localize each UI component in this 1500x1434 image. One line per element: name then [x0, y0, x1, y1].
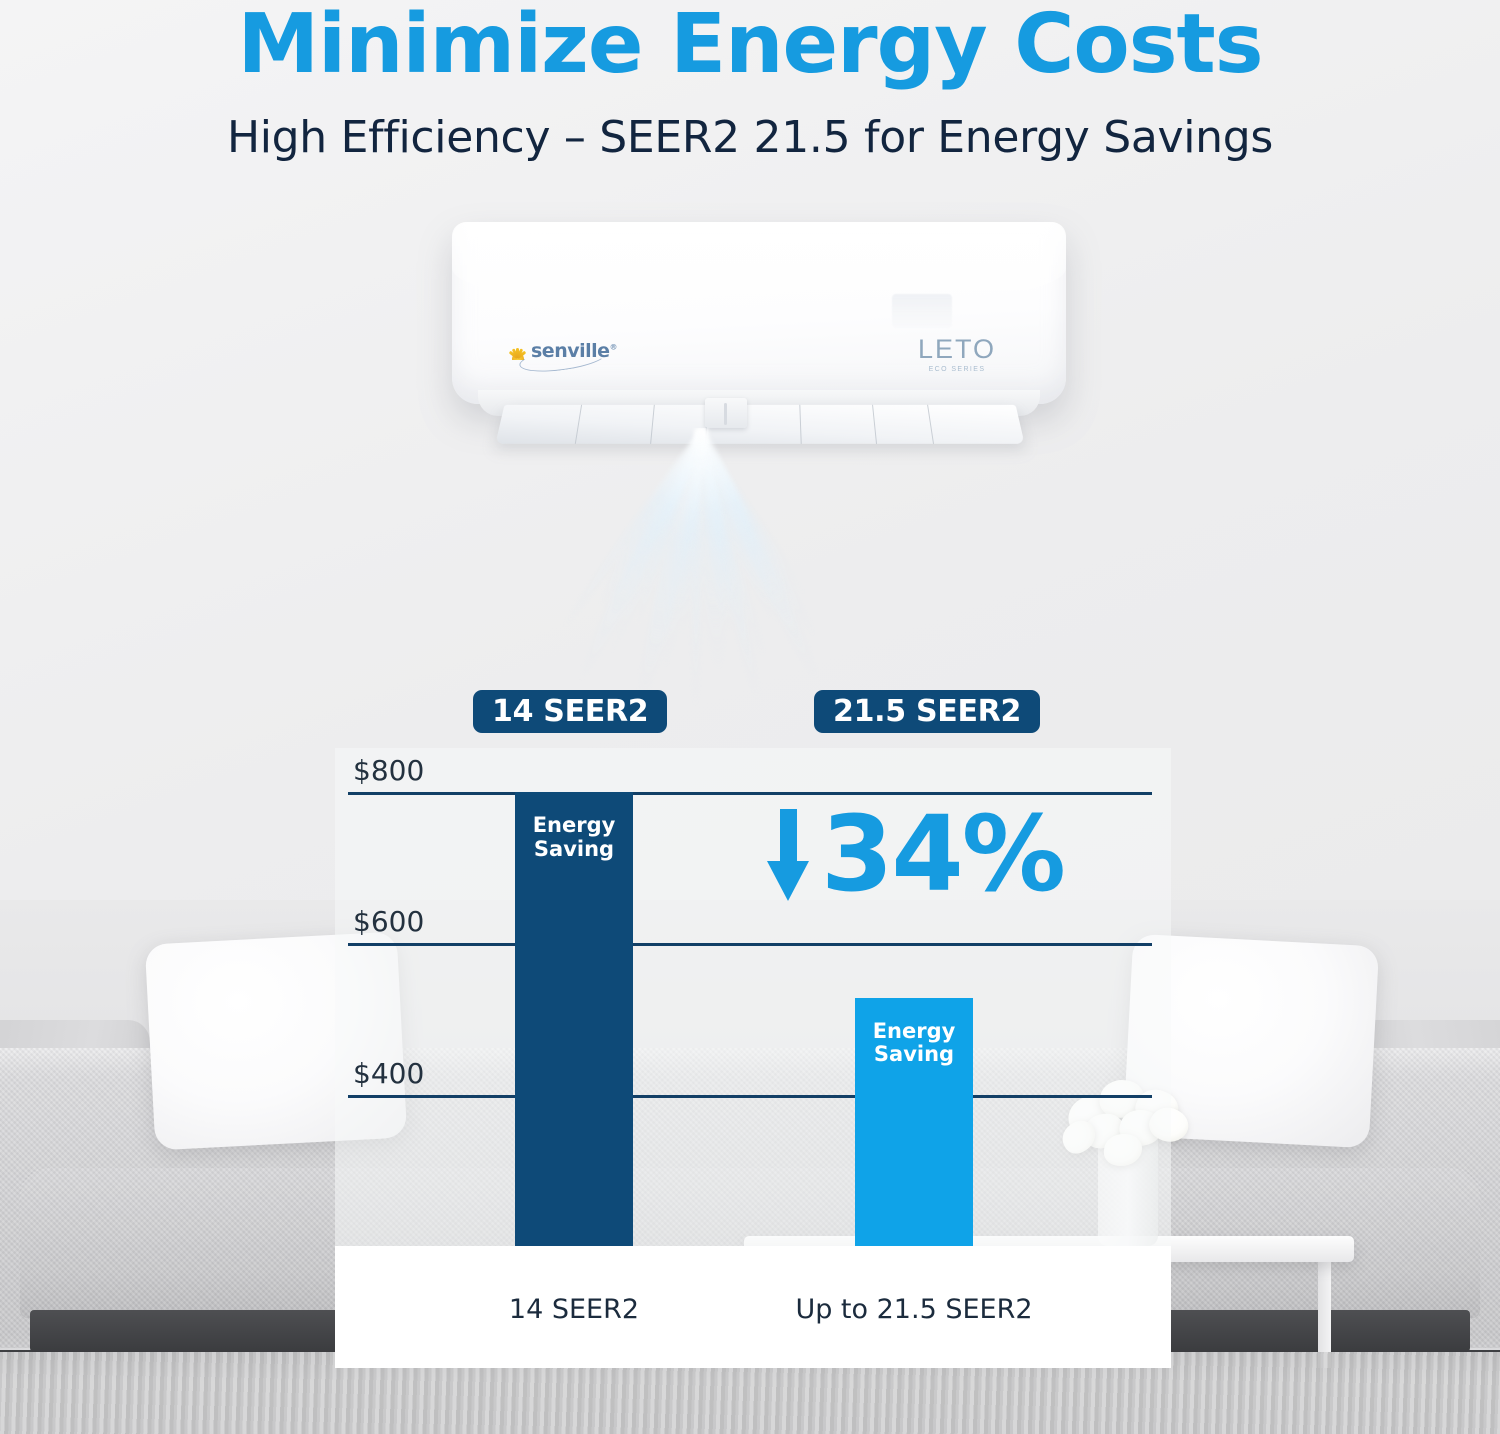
mini-split-ac-unit: senville® LETO ECO SERIES: [452, 222, 1066, 437]
louver-seam: [575, 405, 582, 444]
gridline-400: [348, 1095, 1152, 1098]
airflow-ray: [692, 428, 730, 673]
airflow-ray: [689, 428, 812, 601]
airflow-ray: [691, 428, 785, 625]
airflow-ray: [557, 428, 706, 634]
chart-footer-panel: 14 SEER2 Up to 21.5 SEER2: [335, 1246, 1171, 1368]
ac-chassis: senville® LETO ECO SERIES: [452, 222, 1066, 404]
airflow-ray: [691, 428, 770, 663]
louver-seam: [650, 405, 655, 444]
louver-seam: [799, 405, 801, 444]
airflow-ray: [676, 428, 706, 637]
page-subtitle: High Efficiency – SEER2 21.5 for Energy …: [0, 112, 1500, 163]
ac-display-panel: [892, 294, 952, 328]
gridline-600: [348, 943, 1152, 946]
bar-label-energy-saving-b: EnergySaving: [855, 1020, 973, 1067]
airflow-ray: [689, 428, 821, 642]
bar-label-energy-saving-a: EnergySaving: [515, 814, 633, 861]
infographic-canvas: senville® LETO ECO SERIES Minimize Energ…: [0, 0, 1500, 1434]
ac-louver-tab: [705, 398, 747, 428]
savings-percent: 34%: [821, 808, 1064, 902]
page-title: Minimize Energy Costs: [0, 4, 1500, 86]
airflow-ray: [572, 428, 713, 687]
y-tick-600: $600: [353, 905, 424, 938]
senville-logo: senville®: [507, 340, 617, 362]
airflow-ray: [656, 428, 711, 672]
airflow-ray: [692, 428, 738, 635]
airflow-ray: [630, 428, 716, 706]
eco-series-label: ECO SERIES: [918, 366, 996, 373]
down-arrow-icon: [767, 809, 809, 901]
badge-21-5-seer2: 21.5 SEER2: [814, 690, 1040, 733]
leto-logo: LETO ECO SERIES: [918, 334, 996, 373]
louver-seam: [872, 405, 877, 444]
savings-callout: 34%: [767, 808, 1064, 902]
ac-air-louver: [495, 405, 1024, 444]
airflow-ray: [632, 428, 704, 630]
airflow-ray: [690, 428, 825, 685]
y-tick-400: $400: [353, 1057, 424, 1090]
y-tick-800: $800: [353, 754, 424, 787]
ac-gloss-highlight: [452, 222, 1066, 314]
x-axis-label-14-seer2: 14 SEER2: [424, 1294, 724, 1325]
airflow-ray: [604, 428, 708, 660]
airflow-ray: [591, 428, 716, 615]
leto-wordmark: LETO: [918, 334, 996, 365]
airflow-ray: [691, 428, 765, 704]
badge-14-seer2: 14 SEER2: [473, 690, 667, 733]
x-axis-label-21-5-seer2: Up to 21.5 SEER2: [764, 1294, 1064, 1325]
registered-trademark-icon: ®: [610, 343, 618, 352]
airflow-ray: [691, 428, 702, 710]
louver-seam: [927, 405, 934, 444]
energy-cost-bar-chart: 14 SEER2 21.5 SEER2 $800$600$400 EnergyS…: [335, 690, 1171, 1370]
